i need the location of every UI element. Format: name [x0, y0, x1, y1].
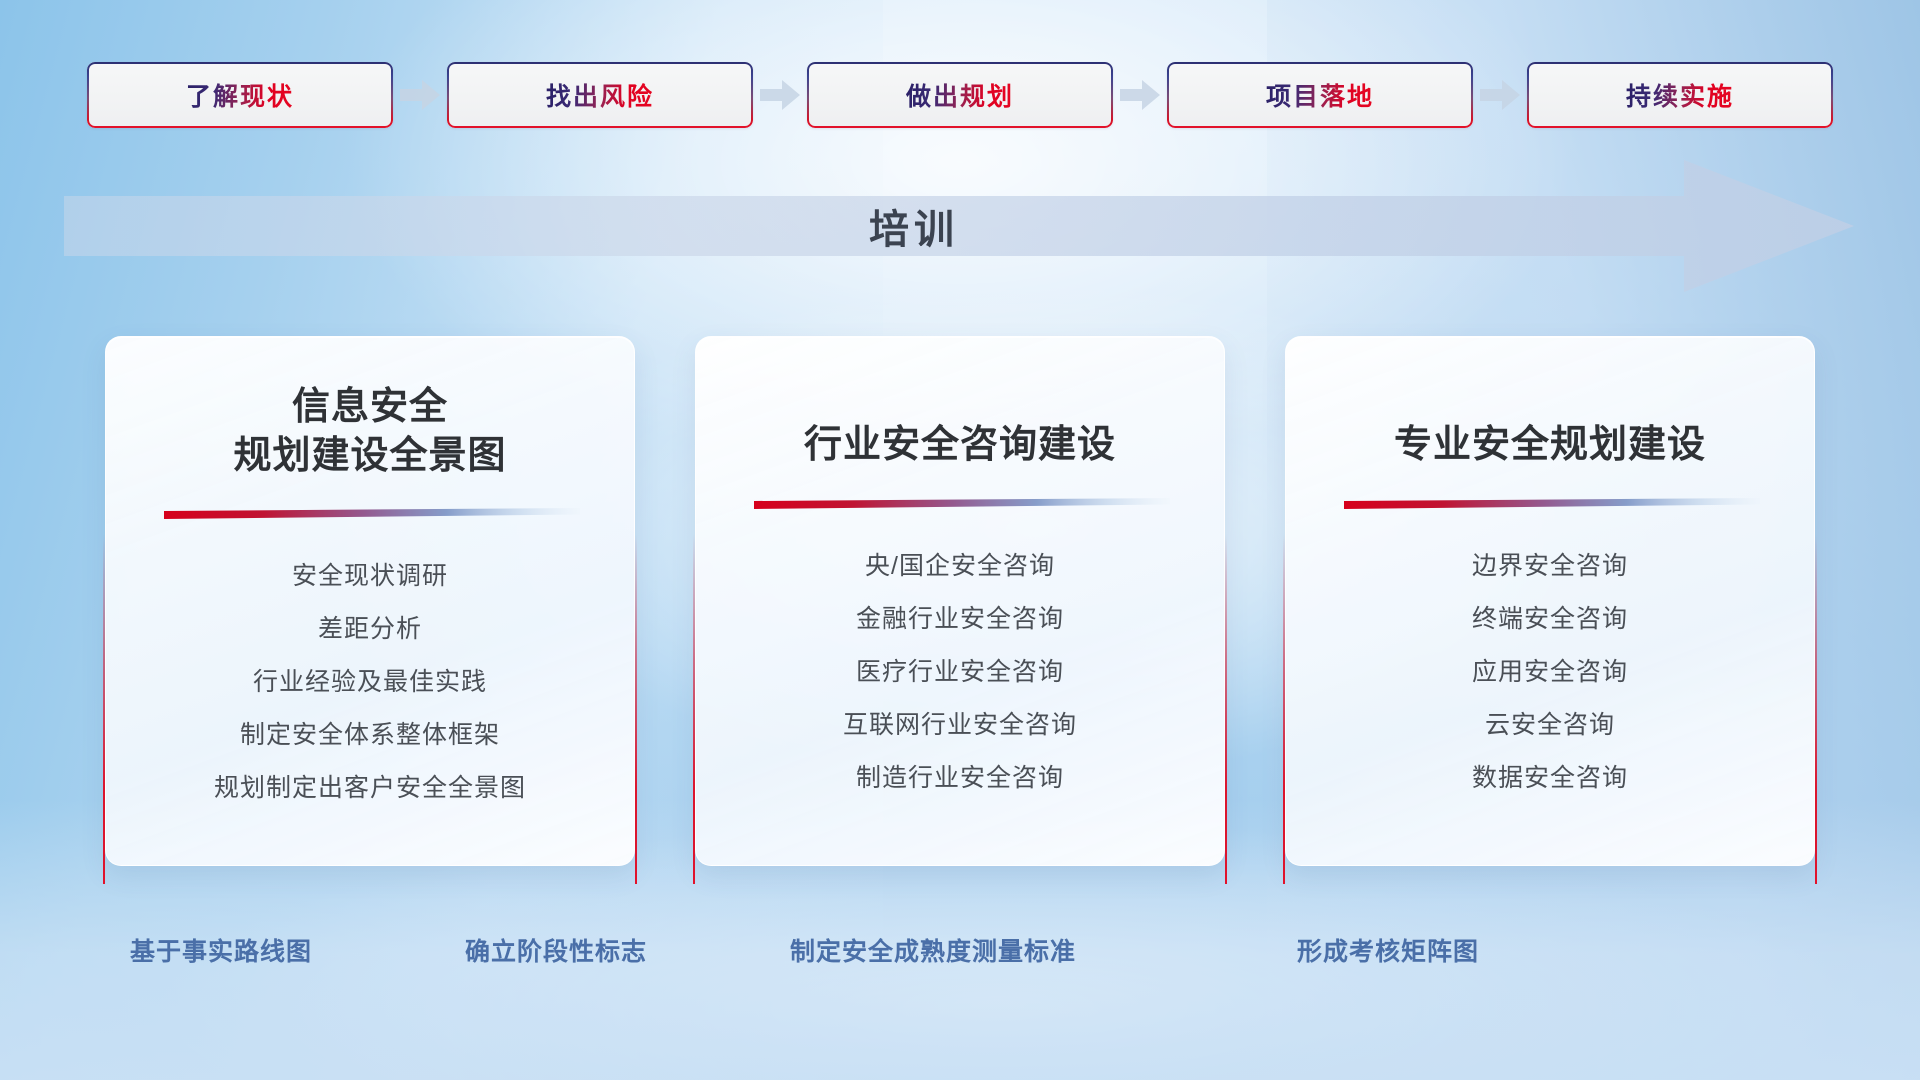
rail-right — [1815, 354, 1817, 884]
process-step-row: 了解现状 找出风险 做出规划 项目落地 持续实施 — [0, 62, 1920, 128]
caption-2: 确立阶段性标志 — [465, 932, 647, 968]
step-label: 做出规划 — [906, 77, 1014, 113]
gradient-rule-icon — [1340, 498, 1760, 512]
card-3[interactable]: 专业安全规划建设 — [1285, 336, 1815, 866]
card-divider — [1340, 498, 1760, 512]
list-item: 行业经验及最佳实践 — [253, 662, 487, 698]
rail-right — [635, 354, 637, 884]
list-item: 云安全咨询 — [1485, 705, 1615, 741]
list-item: 安全现状调研 — [292, 556, 448, 592]
arrow-right-icon — [1473, 62, 1527, 128]
card-wrapper-3: 专业安全规划建设 — [1285, 336, 1815, 866]
caption-4: 形成考核矩阵图 — [1297, 932, 1479, 968]
step-label: 持续实施 — [1626, 77, 1734, 113]
step-box-2[interactable]: 找出风险 — [447, 62, 753, 128]
step-box-3[interactable]: 做出规划 — [807, 62, 1113, 128]
list-item: 终端安全咨询 — [1472, 599, 1628, 635]
arrow-right-icon — [1113, 62, 1167, 128]
rail-right — [1225, 354, 1227, 884]
step-label: 项目落地 — [1266, 77, 1374, 113]
list-item: 规划制定出客户安全全景图 — [214, 768, 526, 804]
list-item: 边界安全咨询 — [1472, 546, 1628, 582]
list-item: 应用安全咨询 — [1472, 652, 1628, 688]
card-item-list: 边界安全咨询 终端安全咨询 应用安全咨询 云安全咨询 数据安全咨询 — [1320, 546, 1780, 794]
list-item: 央/国企安全咨询 — [865, 546, 1055, 582]
card-1[interactable]: 信息安全 规划建设全景图 — [105, 336, 635, 866]
footer-caption-row: 基于事实路线图 确立阶段性标志 制定安全成熟度测量标准 形成考核矩阵图 — [0, 932, 1920, 972]
list-item: 制造行业安全咨询 — [856, 758, 1064, 794]
card-item-list: 安全现状调研 差距分析 行业经验及最佳实践 制定安全体系整体框架 规划制定出客户… — [140, 556, 600, 804]
card-title: 行业安全咨询建设 — [804, 421, 1116, 470]
training-banner: 培训 — [64, 160, 1854, 292]
list-item: 数据安全咨询 — [1472, 758, 1628, 794]
banner-title: 培训 — [64, 160, 1764, 292]
card-2[interactable]: 行业安全咨询建设 — [695, 336, 1225, 866]
caption-1: 基于事实路线图 — [130, 932, 312, 968]
list-item: 互联网行业安全咨询 — [843, 705, 1077, 741]
step-label: 了解现状 — [186, 77, 294, 113]
card-title: 专业安全规划建设 — [1394, 421, 1706, 470]
card-row: 信息安全 规划建设全景图 — [0, 336, 1920, 888]
list-item: 差距分析 — [318, 609, 422, 645]
card-wrapper-2: 行业安全咨询建设 — [695, 336, 1225, 866]
card-divider — [750, 498, 1170, 512]
list-item: 金融行业安全咨询 — [856, 599, 1064, 635]
caption-3: 制定安全成熟度测量标准 — [790, 932, 1076, 968]
card-title: 信息安全 规划建设全景图 — [233, 383, 506, 480]
arrow-right-icon — [753, 62, 807, 128]
card-divider — [160, 508, 580, 522]
card-wrapper-1: 信息安全 规划建设全景图 — [105, 336, 635, 866]
card-item-list: 央/国企安全咨询 金融行业安全咨询 医疗行业安全咨询 互联网行业安全咨询 制造行… — [730, 546, 1190, 794]
step-box-4[interactable]: 项目落地 — [1167, 62, 1473, 128]
gradient-rule-icon — [750, 498, 1170, 512]
gradient-rule-icon — [160, 508, 580, 522]
step-label: 找出风险 — [546, 77, 654, 113]
step-box-5[interactable]: 持续实施 — [1527, 62, 1833, 128]
list-item: 医疗行业安全咨询 — [856, 652, 1064, 688]
step-box-1[interactable]: 了解现状 — [87, 62, 393, 128]
arrow-right-icon — [393, 62, 447, 128]
list-item: 制定安全体系整体框架 — [240, 715, 500, 751]
